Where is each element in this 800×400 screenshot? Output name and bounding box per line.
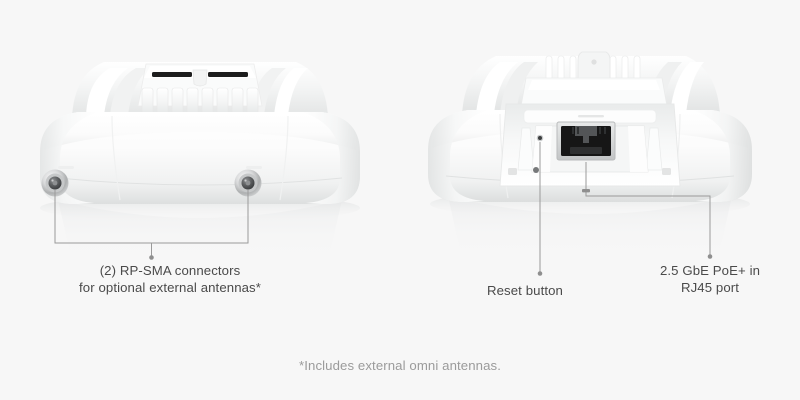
callout-dot-antenna [149,255,154,260]
vent-notch-left [58,166,74,169]
callout-dot-poe [708,254,713,259]
bay-standoff [533,167,539,173]
reset-button [537,135,544,142]
callout-label-antenna: (2) RP-SMA connectors for optional exter… [30,262,310,296]
device-chassis [40,112,360,204]
device-panel-front [0,0,400,400]
callout-anchor-poe [582,189,590,192]
callout-dot-reset [538,271,543,276]
bay-screw-left [508,168,517,175]
bay-screw-right [662,168,671,175]
diagram-canvas: (2) RP-SMA connectors for optional exter… [0,0,800,400]
mount-slot-right [208,72,248,77]
access-point-rear-view [400,0,800,400]
device-reflection [40,194,360,264]
callout-label-poe: 2.5 GbE PoE+ in RJ45 port [630,262,790,296]
callout-label-reset: Reset button [425,282,625,299]
mount-slot-left [152,72,192,77]
heatsink-fins [72,62,328,118]
device-panel-rear [400,0,800,400]
rj45-port [557,122,615,160]
footnote-text: *Includes external omni antennas. [0,358,800,373]
vent-notch-right [246,166,262,169]
access-point-front-view [0,0,400,400]
